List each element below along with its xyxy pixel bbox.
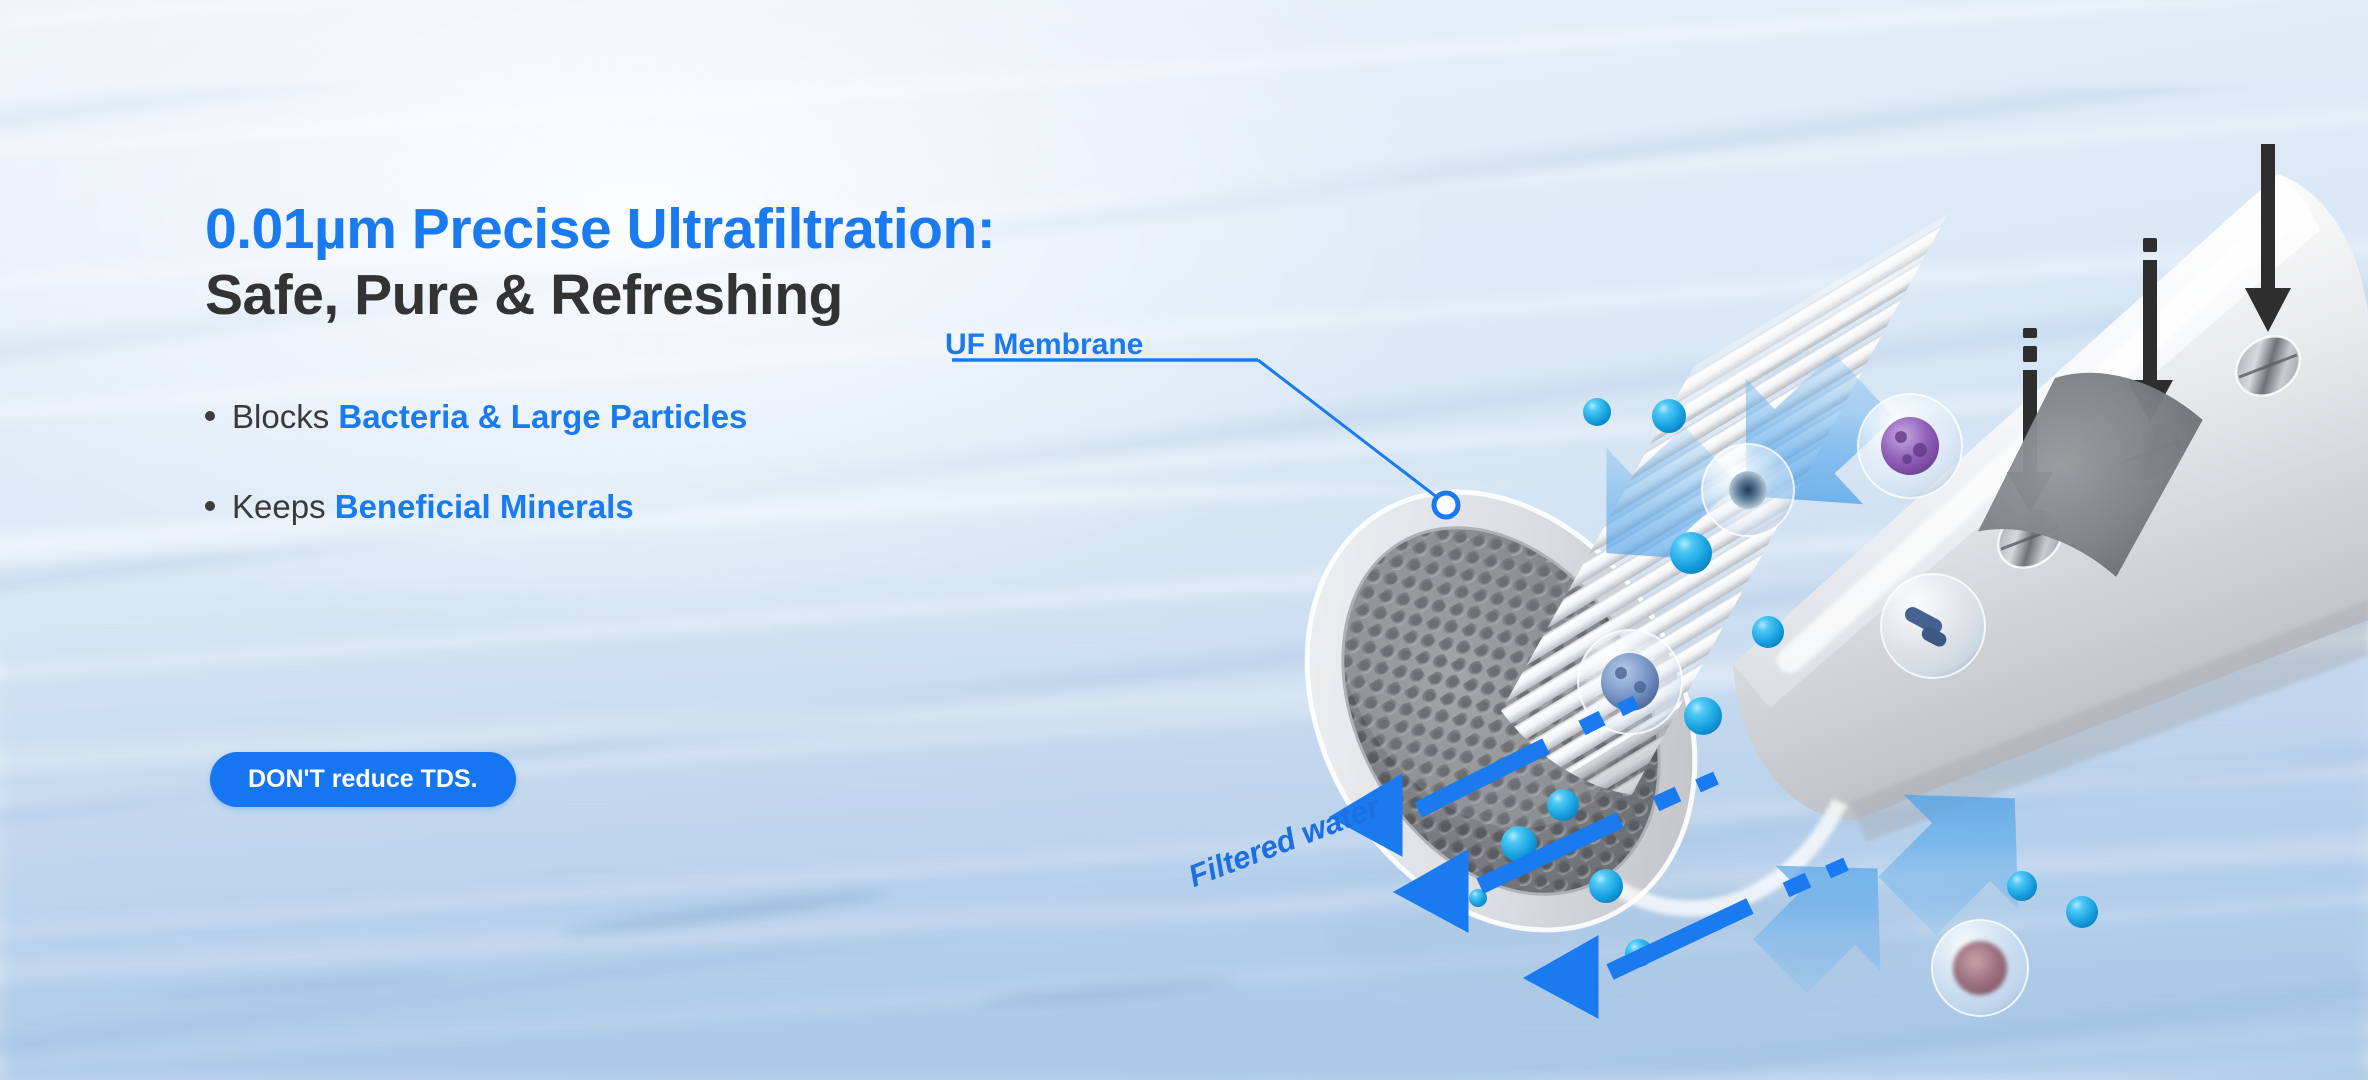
contaminant-virus bbox=[1702, 444, 1794, 536]
bullet-dot-icon bbox=[205, 411, 215, 421]
uf-membrane-leader-line bbox=[1258, 360, 1438, 498]
water-droplet bbox=[1652, 399, 1686, 433]
water-droplet bbox=[1752, 616, 1784, 648]
water-droplet bbox=[2007, 871, 2037, 901]
water-droplet bbox=[2066, 896, 2098, 928]
water-droplet bbox=[1583, 398, 1611, 426]
water-droplet bbox=[1670, 532, 1712, 574]
water-droplet bbox=[1684, 697, 1722, 735]
benefit-prefix-2: Keeps bbox=[232, 488, 335, 525]
water-droplet bbox=[1547, 789, 1579, 821]
uf-membrane-banner: 0.01µm Precise Ultrafiltration: Safe, Pu… bbox=[0, 0, 2368, 1080]
benefit-accent-1: Bacteria & Large Particles bbox=[338, 398, 747, 435]
uf-membrane-illustration: Raw water UF Membrane Filtered water bbox=[1150, 60, 2368, 1080]
bullet-dot-icon bbox=[205, 501, 215, 511]
tds-badge: DON'T reduce TDS. bbox=[210, 752, 516, 807]
contaminant-particle-rose bbox=[1932, 920, 2028, 1016]
water-droplet bbox=[1589, 869, 1623, 903]
benefit-accent-2: Beneficial Minerals bbox=[335, 488, 634, 525]
benefit-prefix-1: Blocks bbox=[232, 398, 338, 435]
uf-membrane-marker bbox=[1434, 493, 1458, 517]
benefit-text-2: Keeps Beneficial Minerals bbox=[232, 488, 634, 526]
water-streak bbox=[150, 970, 450, 1003]
contaminant-microbe-purple bbox=[1858, 394, 1962, 498]
water-streak bbox=[560, 885, 889, 941]
contaminant-bacteria-rod bbox=[1881, 574, 1985, 678]
uf-membrane-label: UF Membrane bbox=[945, 328, 1143, 362]
benefit-text-1: Blocks Bacteria & Large Particles bbox=[232, 398, 747, 436]
